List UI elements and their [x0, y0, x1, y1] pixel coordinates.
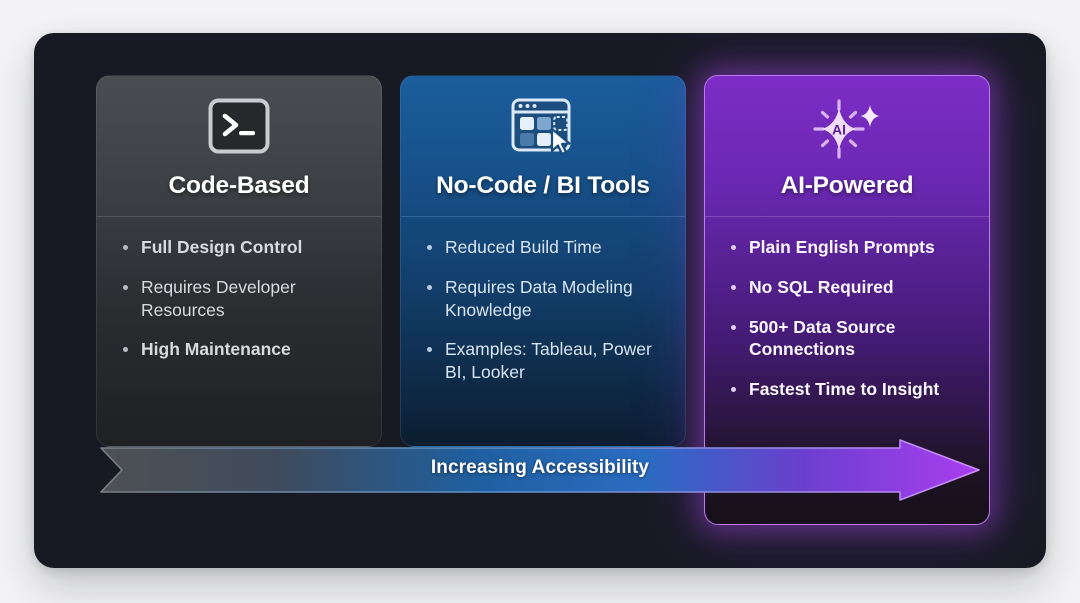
dashboard-builder-icon — [401, 98, 685, 156]
card-divider — [97, 216, 381, 217]
list-item: Reduced Build Time — [425, 236, 669, 259]
list-item: Fastest Time to Insight — [729, 378, 973, 401]
increasing-accessibility-arrow: Increasing Accessibility — [100, 439, 980, 501]
card-header-ai-powered: AI AI-Powered — [705, 76, 989, 216]
diagram-frame: Code-Based Full Design Control Requires … — [34, 33, 1046, 568]
list-item: Plain English Prompts — [729, 236, 973, 259]
card-header-code-based: Code-Based — [97, 76, 381, 216]
card-no-code-bi-tools[interactable]: No-Code / BI Tools Reduced Build Time Re… — [400, 75, 686, 447]
terminal-icon — [97, 98, 381, 154]
feature-list-code-based: Full Design Control Requires Developer R… — [121, 236, 365, 378]
list-item: No SQL Required — [729, 276, 973, 299]
list-item: Requires Developer Resources — [121, 276, 365, 322]
list-item: High Maintenance — [121, 338, 365, 361]
arrow-shape — [101, 440, 979, 500]
card-code-based[interactable]: Code-Based Full Design Control Requires … — [96, 75, 382, 447]
list-item: 500+ Data Source Connections — [729, 316, 973, 362]
card-divider — [705, 216, 989, 217]
list-item: Full Design Control — [121, 236, 365, 259]
ai-sparkle-icon: AI — [705, 98, 989, 160]
list-item: Examples: Tableau, Power BI, Looker — [425, 338, 669, 384]
feature-list-ai-powered: Plain English Prompts No SQL Required 50… — [729, 236, 973, 418]
card-title: AI-Powered — [705, 172, 989, 200]
card-title: No-Code / BI Tools — [401, 172, 685, 200]
card-header-no-code-bi-tools: No-Code / BI Tools — [401, 76, 685, 216]
ai-icon-label: AI — [832, 122, 846, 138]
card-divider — [401, 216, 685, 217]
card-title: Code-Based — [97, 172, 381, 200]
list-item: Requires Data Modeling Knowledge — [425, 276, 669, 322]
feature-list-no-code-bi-tools: Reduced Build Time Requires Data Modelin… — [425, 236, 669, 401]
